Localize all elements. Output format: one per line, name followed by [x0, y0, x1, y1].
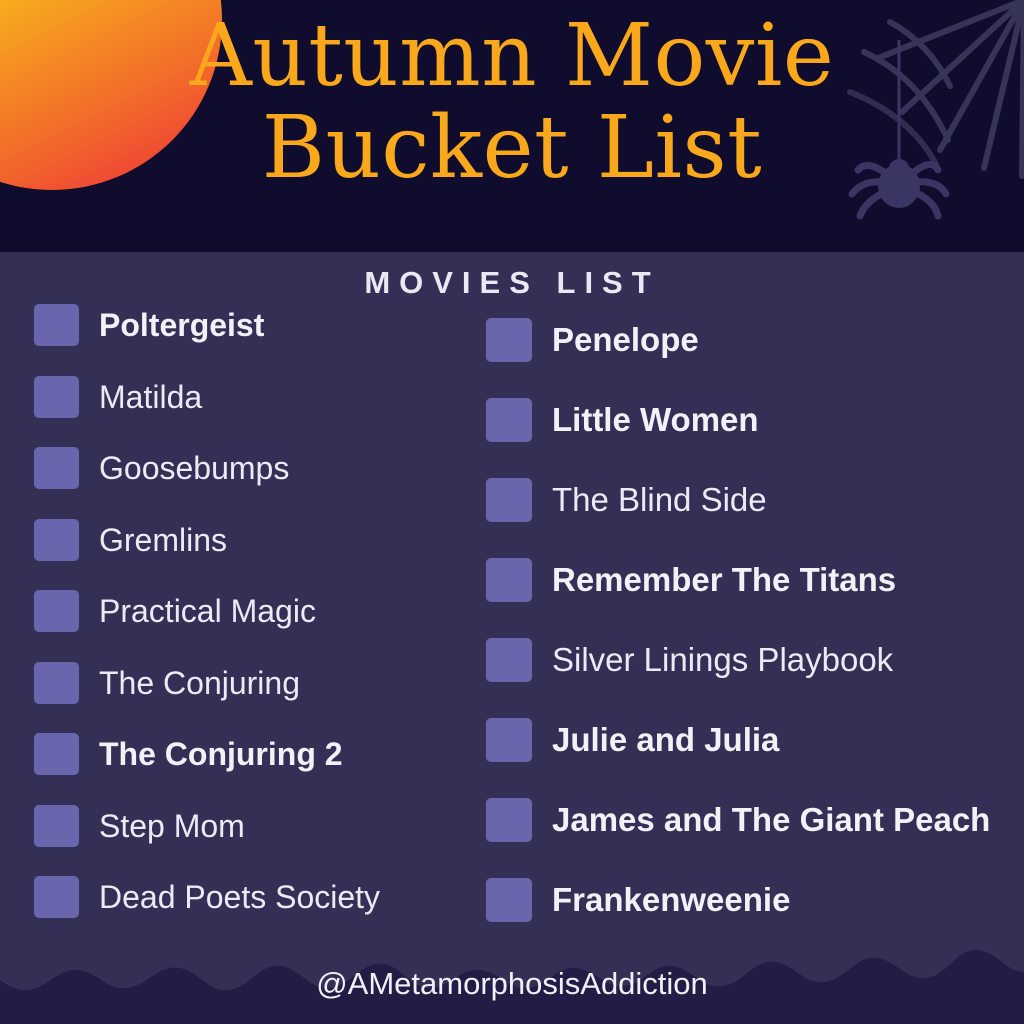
checkbox-icon[interactable]	[34, 376, 79, 418]
list-item[interactable]: Remember The Titans	[486, 555, 1006, 605]
checkbox-icon[interactable]	[486, 878, 532, 922]
list-item-label: Little Women	[552, 403, 759, 437]
list-item-label: Practical Magic	[99, 594, 316, 628]
checkbox-icon[interactable]	[34, 447, 79, 489]
list-item[interactable]: Little Women	[486, 395, 1006, 445]
checkbox-icon[interactable]	[486, 558, 532, 602]
poster-title: Autumn Movie Bucket List	[0, 8, 1024, 196]
list-item[interactable]: Gremlins	[34, 515, 464, 565]
list-item-label: Poltergeist	[99, 308, 264, 342]
social-handle: @AMetamorphosisAddiction	[0, 966, 1024, 1002]
list-item[interactable]: Practical Magic	[34, 586, 464, 636]
list-item[interactable]: James and The Giant Peach	[486, 795, 1006, 845]
list-item[interactable]: The Conjuring 2	[34, 729, 464, 779]
list-item[interactable]: Goosebumps	[34, 443, 464, 493]
checkbox-icon[interactable]	[34, 662, 79, 704]
checkbox-icon[interactable]	[486, 798, 532, 842]
list-item-label: Gremlins	[99, 523, 227, 557]
list-item-label: Goosebumps	[99, 451, 289, 485]
section-heading: MOVIES LIST	[0, 265, 1024, 301]
list-item[interactable]: Dead Poets Society	[34, 872, 464, 922]
list-item[interactable]: Penelope	[486, 315, 1006, 365]
list-item[interactable]: Step Mom	[34, 801, 464, 851]
list-item-label: Frankenweenie	[552, 883, 790, 917]
list-item[interactable]: Frankenweenie	[486, 875, 1006, 925]
list-item-label: Silver Linings Playbook	[552, 643, 893, 677]
list-item[interactable]: Poltergeist	[34, 300, 464, 350]
checkbox-icon[interactable]	[486, 398, 532, 442]
checkbox-icon[interactable]	[34, 733, 79, 775]
movies-column-right: Penelope Little Women The Blind Side Rem…	[486, 315, 1006, 955]
checkbox-icon[interactable]	[486, 478, 532, 522]
list-item[interactable]: The Blind Side	[486, 475, 1006, 525]
checkbox-icon[interactable]	[34, 805, 79, 847]
list-item-label: Penelope	[552, 323, 699, 357]
list-item-label: Step Mom	[99, 809, 245, 843]
list-item[interactable]: Silver Linings Playbook	[486, 635, 1006, 685]
checkbox-icon[interactable]	[34, 304, 79, 346]
list-item[interactable]: Julie and Julia	[486, 715, 1006, 765]
list-item-label: The Blind Side	[552, 483, 767, 517]
checkbox-icon[interactable]	[486, 318, 532, 362]
autumn-movie-bucket-list-poster: Autumn Movie Bucket List MOVIES LIST Pol…	[0, 0, 1024, 1024]
list-item-label: Matilda	[99, 380, 202, 414]
list-item[interactable]: Matilda	[34, 372, 464, 422]
title-line-2: Bucket List	[0, 100, 1024, 196]
list-item-label: The Conjuring	[99, 666, 300, 700]
list-item-label: Remember The Titans	[552, 563, 896, 597]
list-item[interactable]: The Conjuring	[34, 658, 464, 708]
movies-column-left: Poltergeist Matilda Goosebumps Gremlins …	[34, 300, 464, 944]
list-item-label: Julie and Julia	[552, 723, 779, 757]
checkbox-icon[interactable]	[486, 718, 532, 762]
checkbox-icon[interactable]	[34, 519, 79, 561]
checkbox-icon[interactable]	[486, 638, 532, 682]
checkbox-icon[interactable]	[34, 590, 79, 632]
list-item-label: James and The Giant Peach	[552, 803, 990, 837]
checkbox-icon[interactable]	[34, 876, 79, 918]
title-line-1: Autumn Movie	[0, 8, 1024, 104]
list-item-label: The Conjuring 2	[99, 737, 343, 771]
list-item-label: Dead Poets Society	[99, 880, 380, 914]
